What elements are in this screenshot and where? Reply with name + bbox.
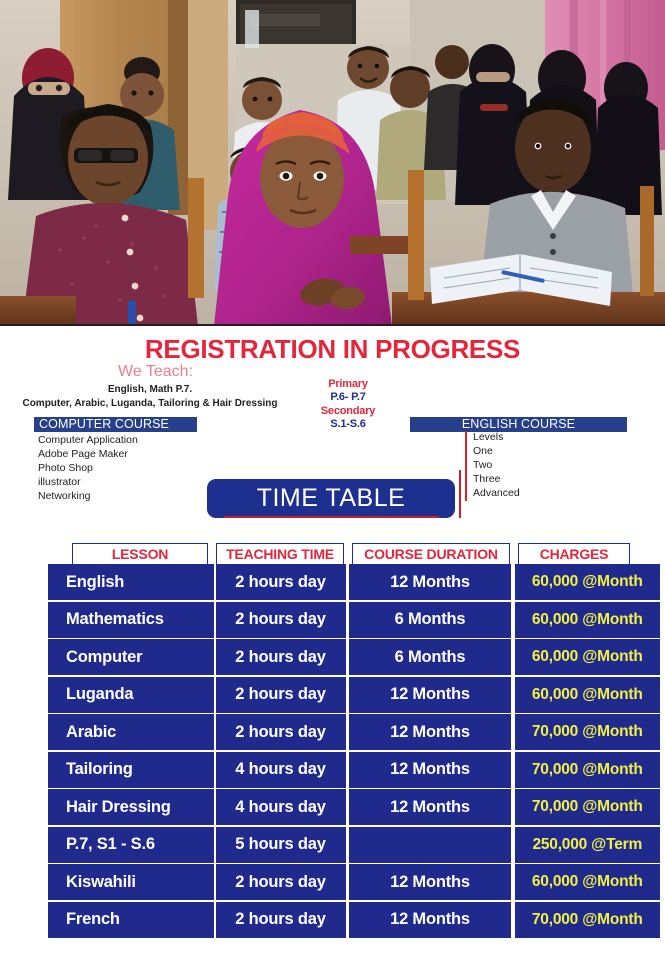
cell-charges: 250,000 @Term xyxy=(515,827,661,863)
cell-lesson: Luganda xyxy=(48,677,214,713)
table-row: Mathematics 2 hours day 6 Months 60,000 … xyxy=(48,602,660,638)
cell-time: 2 hours day xyxy=(216,602,346,638)
cell-lesson: Arabic xyxy=(48,714,214,750)
table-row: Computer 2 hours day 6 Months 60,000 @Mo… xyxy=(48,639,660,675)
cell-lesson: French xyxy=(48,902,214,938)
column-header-charges: CHARGES xyxy=(518,543,630,566)
registration-poster: REGISTRATION IN PROGRESS We Teach: Engli… xyxy=(0,0,665,960)
cell-lesson: Kiswahili xyxy=(48,864,214,900)
timetable-body: English 2 hours day 12 Months 60,000 @Mo… xyxy=(48,564,660,939)
banner-underline-rule xyxy=(224,516,439,518)
school-levels-block: Primary P.6- P.7 Secondary S.1-S.6 xyxy=(296,378,400,432)
table-row: Arabic 2 hours day 12 Months 70,000 @Mon… xyxy=(48,714,660,750)
cell-lesson: Mathematics xyxy=(48,602,214,638)
cell-lesson: Tailoring xyxy=(48,752,214,788)
cell-lesson: Computer xyxy=(48,639,214,675)
list-item: Photo Shop xyxy=(38,462,138,476)
primary-value: P.6- P.7 xyxy=(296,391,400,404)
cell-time: 2 hours day xyxy=(216,714,346,750)
cell-duration: 12 Months xyxy=(349,752,511,788)
column-header-course-duration: COURSE DURATION xyxy=(352,543,510,566)
cell-lesson: P.7, S1 - S.6 xyxy=(48,827,214,863)
cell-charges: 60,000 @Month xyxy=(515,602,661,638)
cell-charges: 70,000 @Month xyxy=(515,902,661,938)
cell-time: 2 hours day xyxy=(216,639,346,675)
secondary-value: S.1-S.6 xyxy=(296,418,400,431)
cell-duration: 6 Months xyxy=(349,639,511,675)
cell-charges: 70,000 @Month xyxy=(515,752,661,788)
table-row: Hair Dressing 4 hours day 12 Months 70,0… xyxy=(48,789,660,825)
column-header-teaching-time: TEACHING TIME xyxy=(216,543,344,566)
teach-subjects-line-1: English, Math P.7. xyxy=(0,384,300,395)
banner-side-rule xyxy=(459,470,461,518)
list-item: Advanced xyxy=(473,487,520,501)
cell-duration: 12 Months xyxy=(349,902,511,938)
time-table-banner: TIME TABLE xyxy=(207,479,455,518)
cell-duration: 12 Months xyxy=(349,714,511,750)
cell-duration: 6 Months xyxy=(349,602,511,638)
table-row: Tailoring 4 hours day 12 Months 70,000 @… xyxy=(48,752,660,788)
list-item: One xyxy=(473,445,520,459)
cell-time: 4 hours day xyxy=(216,752,346,788)
cell-charges: 60,000 @Month xyxy=(515,639,661,675)
list-item: Computer Application xyxy=(38,434,138,448)
table-row: P.7, S1 - S.6 5 hours day 250,000 @Term xyxy=(48,827,660,863)
table-row: English 2 hours day 12 Months 60,000 @Mo… xyxy=(48,564,660,600)
column-header-lesson: LESSON xyxy=(72,543,208,566)
english-course-title: ENGLISH COURSE xyxy=(410,417,627,432)
classroom-photo-illustration xyxy=(0,0,665,326)
cell-time: 5 hours day xyxy=(216,827,346,863)
secondary-label: Secondary xyxy=(296,405,400,418)
cell-charges: 70,000 @Month xyxy=(515,789,661,825)
english-course-list: Levels One Two Three Advanced xyxy=(465,431,520,501)
cell-time: 2 hours day xyxy=(216,564,346,600)
teach-subjects-line-2: Computer, Arabic, Luganda, Tailoring & H… xyxy=(0,398,300,409)
computer-course-list: Computer Application Adobe Page Maker Ph… xyxy=(38,434,138,504)
cell-charges: 70,000 @Month xyxy=(515,714,661,750)
list-item: Levels xyxy=(473,431,520,445)
classroom-photo xyxy=(0,0,665,326)
cell-lesson: English xyxy=(48,564,214,600)
registration-title: REGISTRATION IN PROGRESS xyxy=(0,334,665,365)
primary-label: Primary xyxy=(296,378,400,391)
cell-charges: 60,000 @Month xyxy=(515,864,661,900)
list-item: Two xyxy=(473,459,520,473)
cell-duration: 12 Months xyxy=(349,789,511,825)
cell-time: 2 hours day xyxy=(216,864,346,900)
cell-duration: 12 Months xyxy=(349,564,511,600)
computer-course-title: COMPUTER COURSE xyxy=(34,417,197,432)
cell-time: 2 hours day xyxy=(216,677,346,713)
list-item: Networking xyxy=(38,490,138,504)
cell-lesson: Hair Dressing xyxy=(48,789,214,825)
cell-time: 4 hours day xyxy=(216,789,346,825)
table-row: French 2 hours day 12 Months 70,000 @Mon… xyxy=(48,902,660,938)
cell-time: 2 hours day xyxy=(216,902,346,938)
cell-duration: 12 Months xyxy=(349,677,511,713)
cell-charges: 60,000 @Month xyxy=(515,564,661,600)
table-row: Luganda 2 hours day 12 Months 60,000 @Mo… xyxy=(48,677,660,713)
list-item: illustrator xyxy=(38,476,138,490)
cell-charges: 60,000 @Month xyxy=(515,677,661,713)
cell-duration: 12 Months xyxy=(349,864,511,900)
table-row: Kiswahili 2 hours day 12 Months 60,000 @… xyxy=(48,864,660,900)
cell-duration xyxy=(349,827,511,863)
list-item: Three xyxy=(473,473,520,487)
list-item: Adobe Page Maker xyxy=(38,448,138,462)
we-teach-label: We Teach: xyxy=(118,363,193,381)
